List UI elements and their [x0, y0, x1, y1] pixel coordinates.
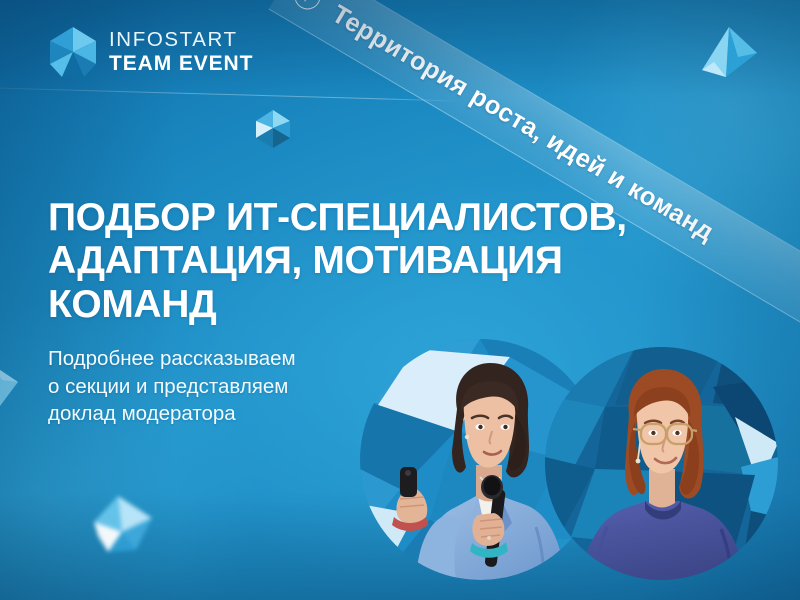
page-title: ПОДБОР ИТ-СПЕЦИАЛИСТОВ, АДАПТАЦИЯ, МОТИВ…	[48, 196, 778, 326]
edge-sliver-left	[0, 360, 20, 420]
brand-logo[interactable]: INFOSTART TEAM EVENT	[48, 26, 253, 78]
polygon-diamond-small	[252, 108, 294, 150]
ribbon-edge-hairline	[0, 86, 460, 102]
glowing-logo-mark-bottom-left	[78, 492, 156, 564]
polygon-cone-top-right	[700, 26, 758, 78]
brand-logo-wordmark: INFOSTART TEAM EVENT	[109, 30, 253, 74]
hero-subtitle: Подробнее рассказываем о секции и предст…	[48, 345, 778, 426]
infostart-diamond-logo-icon	[48, 26, 98, 78]
brand-logo-line-1: INFOSTART	[109, 30, 253, 51]
brand-logo-line-2: TEAM EVENT	[109, 53, 253, 74]
event-announcement-slide: Территория роста, идей и команд INFOSTAR…	[0, 0, 800, 600]
hero-copy: ПОДБОР ИТ-СПЕЦИАЛИСТОВ, АДАПТАЦИЯ, МОТИВ…	[48, 196, 778, 427]
